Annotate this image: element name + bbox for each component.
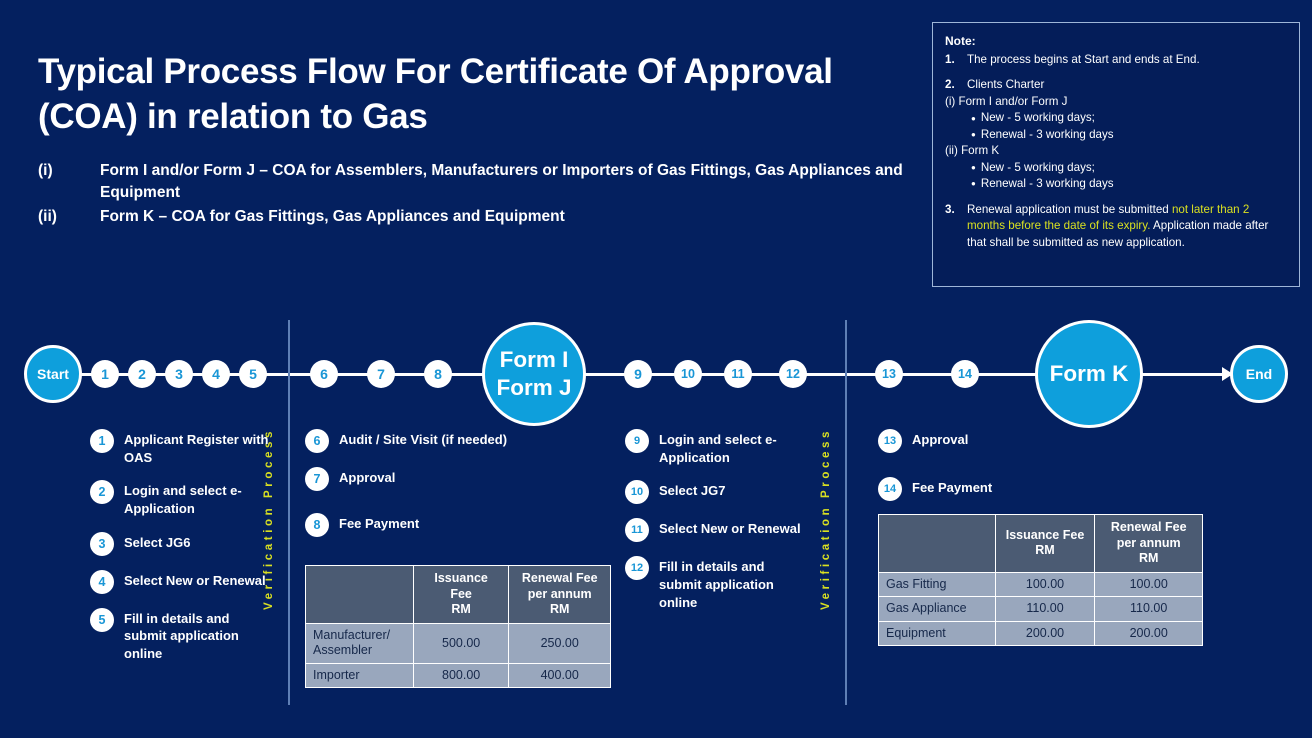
header-line: per annum [1099,536,1198,552]
flow-node-6[interactable]: 6 [310,360,338,388]
table-header-renewal: Renewal Fee per annum RM [509,566,611,624]
legend-badge: 14 [878,477,902,501]
header-line: RM [1099,551,1198,567]
flow-node-8[interactable]: 8 [424,360,452,388]
legend-item[interactable]: 8Fee Payment [305,512,520,537]
flow-node-label: 11 [731,367,744,381]
legend-item[interactable]: 1Applicant Register with OAS [90,428,275,466]
legend-column-3: 9Login and select e-Application 10Select… [625,428,810,624]
infographic-canvas: Typical Process Flow For Certificate Of … [0,0,1312,738]
legend-column-1: 1Applicant Register with OAS 2Login and … [90,428,275,676]
legend-badge: 4 [90,570,114,594]
legend-text: Approval [339,466,395,491]
flow-node-start[interactable]: Start [24,345,82,403]
table-cell-renewal: 400.00 [509,663,611,688]
legend-badge: 9 [625,429,649,453]
legend-text: Fill in details and submit application o… [124,607,275,663]
legend-text: Select New or Renewal [124,569,266,594]
flow-node-label: 7 [377,366,385,382]
flow-node-14[interactable]: 14 [951,360,979,388]
note-box: Note: 1. The process begins at Start and… [932,22,1300,287]
subtitle-item: (ii) Form K – COA for Gas Fittings, Gas … [38,206,918,228]
legend-item[interactable]: 4Select New or Renewal [90,569,275,594]
header-line: Renewal Fee [513,571,606,587]
table-row: Gas Appliance 110.00 110.00 [879,597,1203,622]
note-item3-pre: Renewal application must be submitted [967,203,1172,216]
table-cell-renewal: 200.00 [1095,621,1203,646]
subtitle-item: (i) Form I and/or Form J – COA for Assem… [38,160,918,204]
fee-table-form-ij: Issuance Fee RM Renewal Fee per annum RM… [305,565,611,688]
flow-node-start-label: Start [37,366,69,382]
table-header-issuance: Issuance Fee RM [995,515,1095,573]
legend-badge: 2 [90,480,114,504]
legend-text: Login and select e-Application [659,428,810,466]
header-line: RM [1000,543,1091,559]
subtitle-list: (i) Form I and/or Form J – COA for Assem… [38,160,918,230]
legend-item[interactable]: 11Select New or Renewal [625,517,810,542]
legend-badge: 5 [90,608,114,632]
table-header-row: Issuance Fee RM Renewal Fee per annum RM [306,566,611,624]
flow-node-4[interactable]: 4 [202,360,230,388]
table-cell-label: Gas Fitting [879,572,996,597]
table-cell-renewal: 100.00 [1095,572,1203,597]
table-cell-issuance: 110.00 [995,597,1095,622]
header-line: Issuance [418,571,505,587]
flow-node-label: 6 [320,366,328,382]
note-subsection-i: (i) Form I and/or Form J [945,94,1287,110]
note-bullet-ii-renewal: Renewal - 3 working days [971,176,1287,192]
form-i-label: Form I [496,346,571,374]
legend-item[interactable]: 14Fee Payment [878,476,1098,501]
legend-column-2: 6Audit / Site Visit (if needed) 7Approva… [305,428,520,550]
note-bullet-i-renewal: Renewal - 3 working days [971,127,1287,143]
legend-text: Audit / Site Visit (if needed) [339,428,507,453]
legend-text: Fee Payment [339,512,419,537]
legend-badge: 7 [305,467,329,491]
flow-node-label: 13 [882,367,896,381]
table-cell-label: Gas Appliance [879,597,996,622]
legend-item[interactable]: 7Approval [305,466,520,491]
flow-node-9[interactable]: 9 [624,360,652,388]
flow-node-7[interactable]: 7 [367,360,395,388]
flow-node-label: 10 [681,367,695,381]
note-item-1: 1. The process begins at Start and ends … [945,52,1287,68]
header-line: Fee [418,587,505,603]
legend-badge: 6 [305,429,329,453]
table-header-renewal: Renewal Fee per annum RM [1095,515,1203,573]
legend-text: Approval [912,428,968,453]
legend-text: Login and select e-Application [124,479,275,517]
flow-node-2[interactable]: 2 [128,360,156,388]
legend-text: Fill in details and submit application o… [659,555,810,611]
header-line: Issuance Fee [1000,528,1091,544]
flow-node-3[interactable]: 3 [165,360,193,388]
table-row: Equipment 200.00 200.00 [879,621,1203,646]
legend-item[interactable]: 13Approval [878,428,1098,453]
flow-node-12[interactable]: 12 [779,360,807,388]
form-k-label: Form K [1050,360,1129,388]
subtitle-text: Form K – COA for Gas Fittings, Gas Appli… [100,206,918,228]
legend-item[interactable]: 10Select JG7 [625,479,810,504]
flow-node-form-ij-labels: Form I Form J [496,346,571,403]
flow-node-label: 14 [958,367,972,381]
table-cell-issuance: 100.00 [995,572,1095,597]
legend-text: Applicant Register with OAS [124,428,275,466]
note-spacer [945,68,1287,77]
table-cell-label: Manufacturer/ Assembler [306,623,414,663]
note-item-number: 2. [945,77,967,93]
section-divider-right [845,320,847,705]
flow-node-label: 12 [786,367,800,381]
legend-text: Fee Payment [912,476,992,501]
flow-node-label: 2 [138,366,146,382]
legend-item[interactable]: 6Audit / Site Visit (if needed) [305,428,520,453]
note-item-text: The process begins at Start and ends at … [967,52,1287,68]
legend-item[interactable]: 5Fill in details and submit application … [90,607,275,663]
legend-badge: 13 [878,429,902,453]
legend-item[interactable]: 9Login and select e-Application [625,428,810,466]
legend-badge: 10 [625,480,649,504]
subtitle-text: Form I and/or Form J – COA for Assembler… [100,160,918,204]
subtitle-marker: (i) [38,160,100,204]
note-item-number: 1. [945,52,967,68]
note-heading: Note: [945,33,1287,50]
subtitle-marker: (ii) [38,206,100,228]
header-line: per annum [513,587,606,603]
fee-table-form-k: Issuance Fee RM Renewal Fee per annum RM… [878,514,1203,646]
note-item-2: 2. Clients Charter [945,77,1287,93]
legend-badge: 1 [90,429,114,453]
vertical-label-verification-process-right: Verification Process [820,428,832,610]
flow-node-label: 1 [101,366,109,382]
legend-item[interactable]: 12Fill in details and submit application… [625,555,810,611]
note-subsection-ii: (ii) Form K [945,143,1287,159]
table-cell-label: Importer [306,663,414,688]
table-row: Importer 800.00 400.00 [306,663,611,688]
section-divider-left [288,320,290,705]
table-header-row: Issuance Fee RM Renewal Fee per annum RM [879,515,1203,573]
flow-node-form-k[interactable]: Form K [1035,320,1143,428]
table-cell-issuance: 500.00 [413,623,509,663]
header-line: Renewal Fee [1099,520,1198,536]
legend-item[interactable]: 2Login and select e-Application [90,479,275,517]
flow-node-10[interactable]: 10 [674,360,702,388]
page-title: Typical Process Flow For Certificate Of … [38,50,918,140]
flow-node-label: 3 [175,366,183,382]
legend-badge: 3 [90,532,114,556]
header-line: RM [513,602,606,618]
form-j-label: Form J [496,374,571,402]
flow-node-5[interactable]: 5 [239,360,267,388]
legend-badge: 8 [305,513,329,537]
flow-node-form-ij[interactable]: Form I Form J [482,322,586,426]
flow-node-label: 9 [634,366,642,382]
table-cell-renewal: 110.00 [1095,597,1203,622]
flow-node-label: 5 [249,366,257,382]
table-row: Manufacturer/ Assembler 500.00 250.00 [306,623,611,663]
note-spacer [945,193,1287,202]
table-cell-renewal: 250.00 [509,623,611,663]
table-cell-label: Equipment [879,621,996,646]
flow-node-1[interactable]: 1 [91,360,119,388]
note-item-text: Renewal application must be submitted no… [967,202,1287,251]
note-bullet-i-new: New - 5 working days; [971,110,1287,126]
note-item-number: 3. [945,202,967,251]
legend-badge: 12 [625,556,649,580]
flow-node-label: 4 [212,366,220,382]
table-header-issuance: Issuance Fee RM [413,566,509,624]
table-header-blank [879,515,996,573]
table-cell-issuance: 200.00 [995,621,1095,646]
table-header-blank [306,566,414,624]
header-line: RM [418,602,505,618]
flow-node-end[interactable]: End [1230,345,1288,403]
table-row: Gas Fitting 100.00 100.00 [879,572,1203,597]
legend-text: Select JG7 [659,479,726,504]
legend-badge: 11 [625,518,649,542]
legend-item[interactable]: 3Select JG6 [90,531,275,556]
legend-text: Select JG6 [124,531,191,556]
flow-node-11[interactable]: 11 [724,360,752,388]
flow-node-end-label: End [1246,366,1272,382]
note-item-3: 3. Renewal application must be submitted… [945,202,1287,251]
legend-column-4: 13Approval 14Fee Payment [878,428,1098,514]
flow-node-label: 8 [434,366,442,382]
note-bullet-ii-new: New - 5 working days; [971,160,1287,176]
legend-text: Select New or Renewal [659,517,801,542]
table-cell-issuance: 800.00 [413,663,509,688]
flow-node-13[interactable]: 13 [875,360,903,388]
note-item-text: Clients Charter [967,77,1287,93]
